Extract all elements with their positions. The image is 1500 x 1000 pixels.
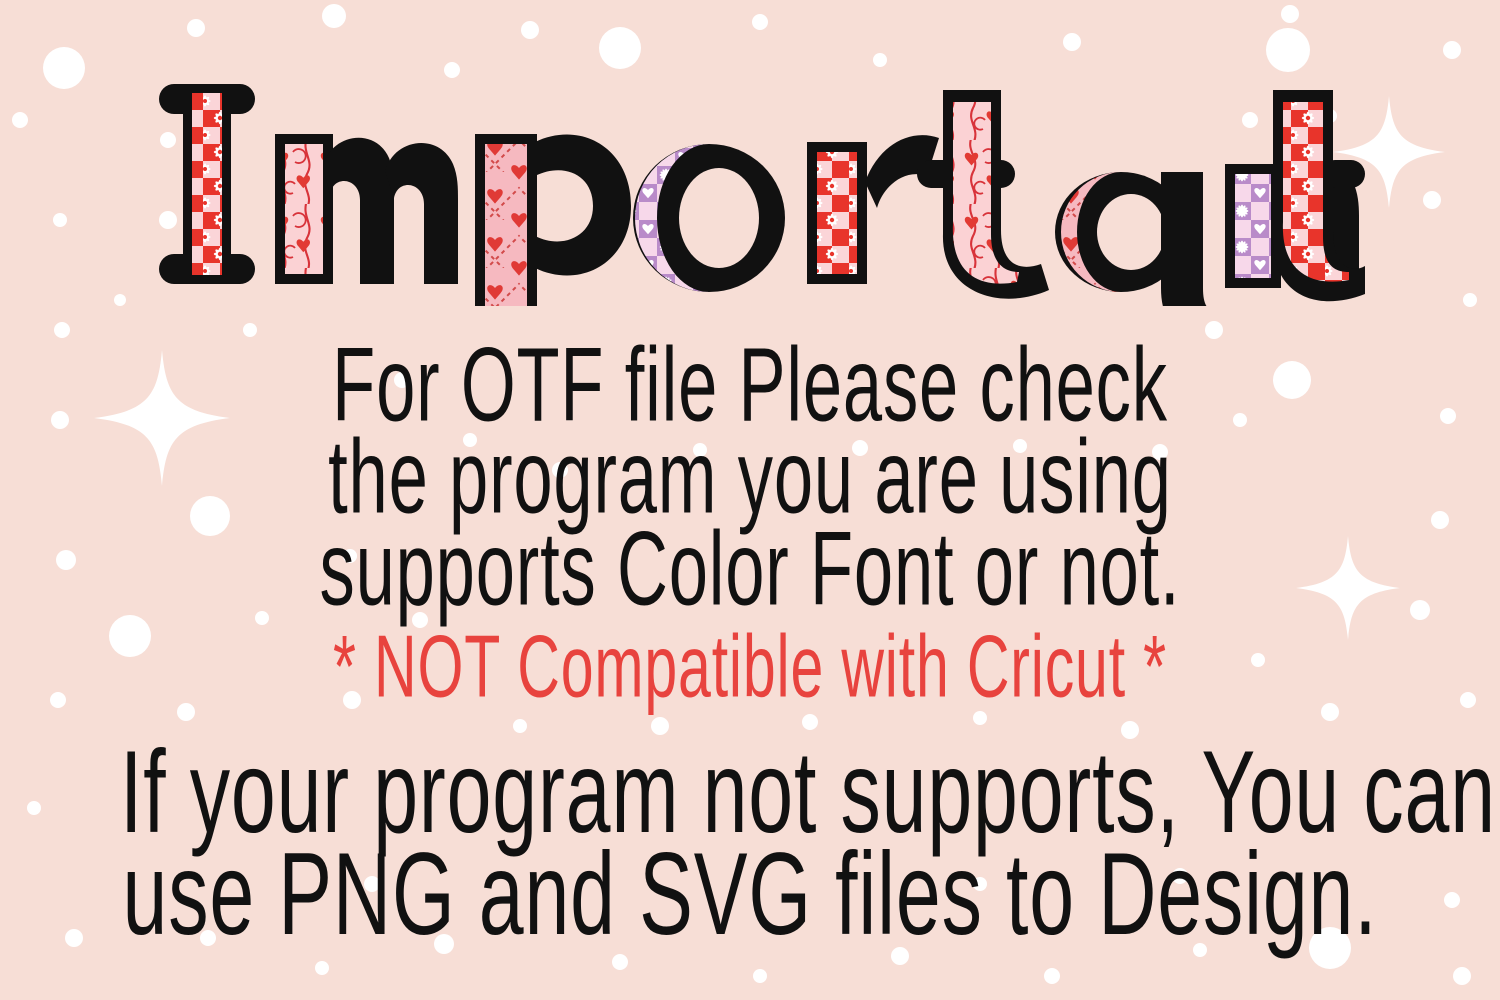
confetti-dot [1444, 892, 1460, 908]
title-letter-o [633, 144, 785, 292]
title-letter-r [807, 135, 939, 284]
confetti-dot [56, 550, 76, 570]
confetti-dot [65, 929, 83, 947]
confetti-dot [873, 53, 887, 67]
body-line-5: use PNG and SVG files to Design. [120, 828, 1380, 962]
confetti-dot [187, 19, 205, 37]
confetti-dot [322, 4, 346, 28]
confetti-dot [51, 411, 69, 429]
confetti-dot [1443, 41, 1461, 59]
title-letter-p [475, 134, 631, 306]
confetti-dot [1266, 28, 1310, 72]
poster-canvas: Important [0, 0, 1500, 1000]
confetti-dot [1431, 511, 1449, 529]
warning-line: * NOT Compatible with Cricut * [135, 617, 1365, 717]
confetti-dot [315, 961, 329, 975]
title-artwork: Important [135, 76, 1365, 306]
confetti-dot [27, 801, 41, 815]
confetti-dot [752, 14, 768, 30]
confetti-dot [521, 21, 539, 39]
title-letter-t-1 [917, 90, 1049, 299]
title-letter-m [275, 134, 458, 284]
confetti-dot [1281, 5, 1299, 23]
title-letter-I [159, 84, 255, 284]
confetti-dot [753, 969, 767, 983]
confetti-dot [1440, 408, 1456, 424]
confetti-dot [1460, 692, 1476, 708]
confetti-dot [1063, 33, 1081, 51]
confetti-dot [54, 322, 70, 338]
confetti-dot [599, 27, 641, 69]
body-line-3: supports Color Font or not. [135, 509, 1365, 630]
title-letter-a [1055, 172, 1215, 306]
confetti-dot [1453, 967, 1471, 985]
confetti-dot [1044, 968, 1060, 984]
confetti-dot [50, 692, 66, 708]
page-title: Important [0, 76, 1500, 306]
confetti-dot [1410, 600, 1430, 620]
